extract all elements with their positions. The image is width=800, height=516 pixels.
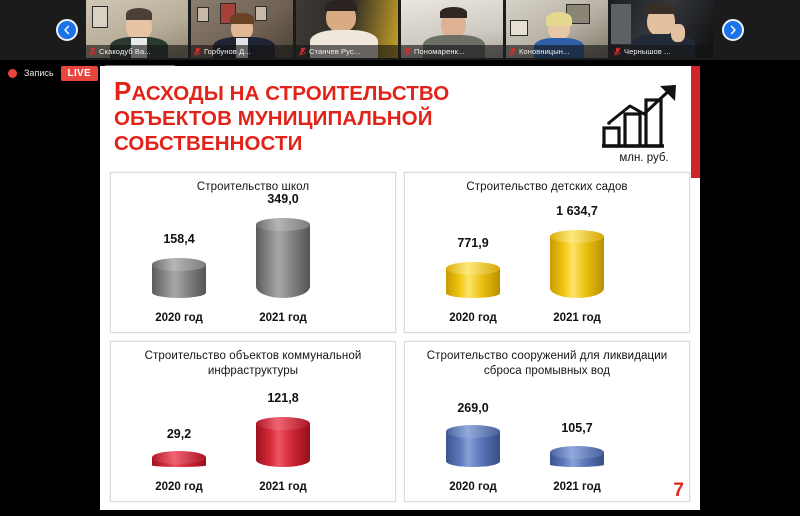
x-axis-label: 2021 год (533, 312, 621, 324)
participant-name-bar: Чернышов ... (611, 45, 713, 58)
participant-name: Горбунов Д... (204, 47, 251, 56)
participant-name: Пономаренк... (414, 47, 465, 56)
mic-muted-icon (299, 47, 306, 56)
mic-muted-icon (614, 47, 621, 56)
next-participants-button[interactable] (722, 19, 744, 41)
participant-tile[interactable]: Станчев Рус... (296, 0, 398, 58)
participant-name-bar: Горбунов Д... (191, 45, 293, 58)
slide-accent-bar (691, 66, 700, 178)
participant-name: Скакодуб Ва... (99, 47, 151, 56)
presentation-slide: РАСХОДЫ НА СТРОИТЕЛЬСТВО ОБЪЕКТОВ МУНИЦИ… (100, 66, 700, 510)
bar-group-2021: 121,8 (239, 417, 327, 467)
bar-value-label: 1 634,7 (533, 204, 621, 218)
chart-plot-area: 269,0 105,7 2020 год 20 (405, 390, 689, 501)
title-line-3: СОБСТВЕННОСТИ (114, 132, 302, 155)
bar-value-label: 771,9 (429, 236, 517, 250)
participant-tile[interactable]: Коновницын... (506, 0, 608, 58)
mic-muted-icon (404, 47, 411, 56)
participant-name-bar: Станчев Рус... (296, 45, 398, 58)
units-label: млн. руб. (598, 152, 690, 164)
bar-group-2021: 105,7 (533, 446, 621, 467)
bar-cylinder (550, 446, 604, 467)
participant-name: Чернышов ... (624, 47, 671, 56)
chart-title: Строительство сооружений для ликвидации … (411, 349, 683, 378)
page-title: РАСХОДЫ НА СТРОИТЕЛЬСТВО ОБЪЕКТОВ МУНИЦИ… (114, 79, 514, 156)
bar-value-label: 349,0 (239, 192, 327, 206)
title-line-1: АСХОДЫ НА СТРОИТЕЛЬСТВО (131, 82, 449, 105)
bar-value-label: 29,2 (135, 427, 223, 441)
bar-group-2020: 29,2 (135, 451, 223, 467)
chart-plot-area: 158,4 349,0 2020 год 20 (111, 195, 395, 332)
x-axis-label: 2020 год (135, 312, 223, 324)
zoom-meeting-screen: Скакодуб Ва... (0, 0, 800, 516)
participant-name: Коновницын... (519, 47, 570, 56)
growth-bar-chart-arrow-icon (600, 82, 686, 154)
x-axis-label: 2021 год (533, 481, 621, 493)
bar-group-2021: 349,0 (239, 218, 327, 298)
bar-group-2020: 158,4 (135, 258, 223, 298)
chevron-left-icon (62, 25, 72, 35)
participant-tile[interactable]: Чернышов ... (611, 0, 713, 58)
participant-name: Станчев Рус... (309, 47, 360, 56)
bar-cylinder (256, 417, 310, 467)
x-axis-label: 2021 год (239, 312, 327, 324)
x-axis-label: 2020 год (429, 481, 517, 493)
chart-panel-schools: Строительство школ 158,4 349,0 (110, 172, 396, 333)
chart-title: Строительство детских садов (411, 180, 683, 195)
chevron-right-icon (728, 25, 738, 35)
mic-muted-icon (89, 47, 96, 56)
previous-participants-button[interactable] (56, 19, 78, 41)
x-axis-label: 2020 год (429, 312, 517, 324)
participant-tiles: Скакодуб Ва... (86, 0, 716, 58)
x-axis-label: 2021 год (239, 481, 327, 493)
chart-plot-area: 771,9 1 634,7 2020 год (405, 195, 689, 332)
chart-panel-utilities: Строительство объектов коммунальной инфр… (110, 341, 396, 502)
bar-value-label: 158,4 (135, 232, 223, 246)
chart-panel-water-facilities: Строительство сооружений для ликвидации … (404, 341, 690, 502)
bar-group-2020: 771,9 (429, 262, 517, 298)
bar-value-label: 121,8 (239, 391, 327, 405)
participant-name-bar: Скакодуб Ва... (86, 45, 188, 58)
mic-muted-icon (509, 47, 516, 56)
bar-value-label: 105,7 (533, 421, 621, 435)
bar-cylinder (550, 230, 604, 298)
bar-value-label: 269,0 (429, 401, 517, 415)
participant-tile[interactable]: Горбунов Д... (191, 0, 293, 58)
chart-panel-kindergartens: Строительство детских садов 771,9 1 634,… (404, 172, 690, 333)
chart-title: Строительство объектов коммунальной инфр… (117, 349, 389, 378)
record-label: Запись (24, 68, 54, 78)
participant-tile[interactable]: Скакодуб Ва... (86, 0, 188, 58)
slide-page-number: 7 (673, 480, 684, 502)
participant-filmstrip: Скакодуб Ва... (0, 0, 800, 60)
bar-cylinder (446, 262, 500, 298)
bar-cylinder (446, 425, 500, 467)
live-badge: LIVE (61, 66, 98, 81)
bar-cylinder (256, 218, 310, 298)
bar-group-2020: 269,0 (429, 425, 517, 467)
chart-plot-area: 29,2 121,8 2020 год 202 (111, 378, 395, 501)
mic-muted-icon (194, 47, 201, 56)
bar-group-2021: 1 634,7 (533, 230, 621, 298)
record-dot-icon (8, 69, 17, 78)
bar-cylinder (152, 451, 206, 467)
x-axis-label: 2020 год (135, 481, 223, 493)
title-line-2: ОБЪЕКТОВ МУНИЦИПАЛЬНОЙ (114, 107, 433, 130)
participant-name-bar: Коновницын... (506, 45, 608, 58)
bar-cylinder (152, 258, 206, 298)
participant-tile[interactable]: Пономаренк... (401, 0, 503, 58)
title-drop-cap: Р (114, 76, 131, 106)
charts-grid: Строительство школ 158,4 349,0 (110, 172, 690, 502)
participant-name-bar: Пономаренк... (401, 45, 503, 58)
